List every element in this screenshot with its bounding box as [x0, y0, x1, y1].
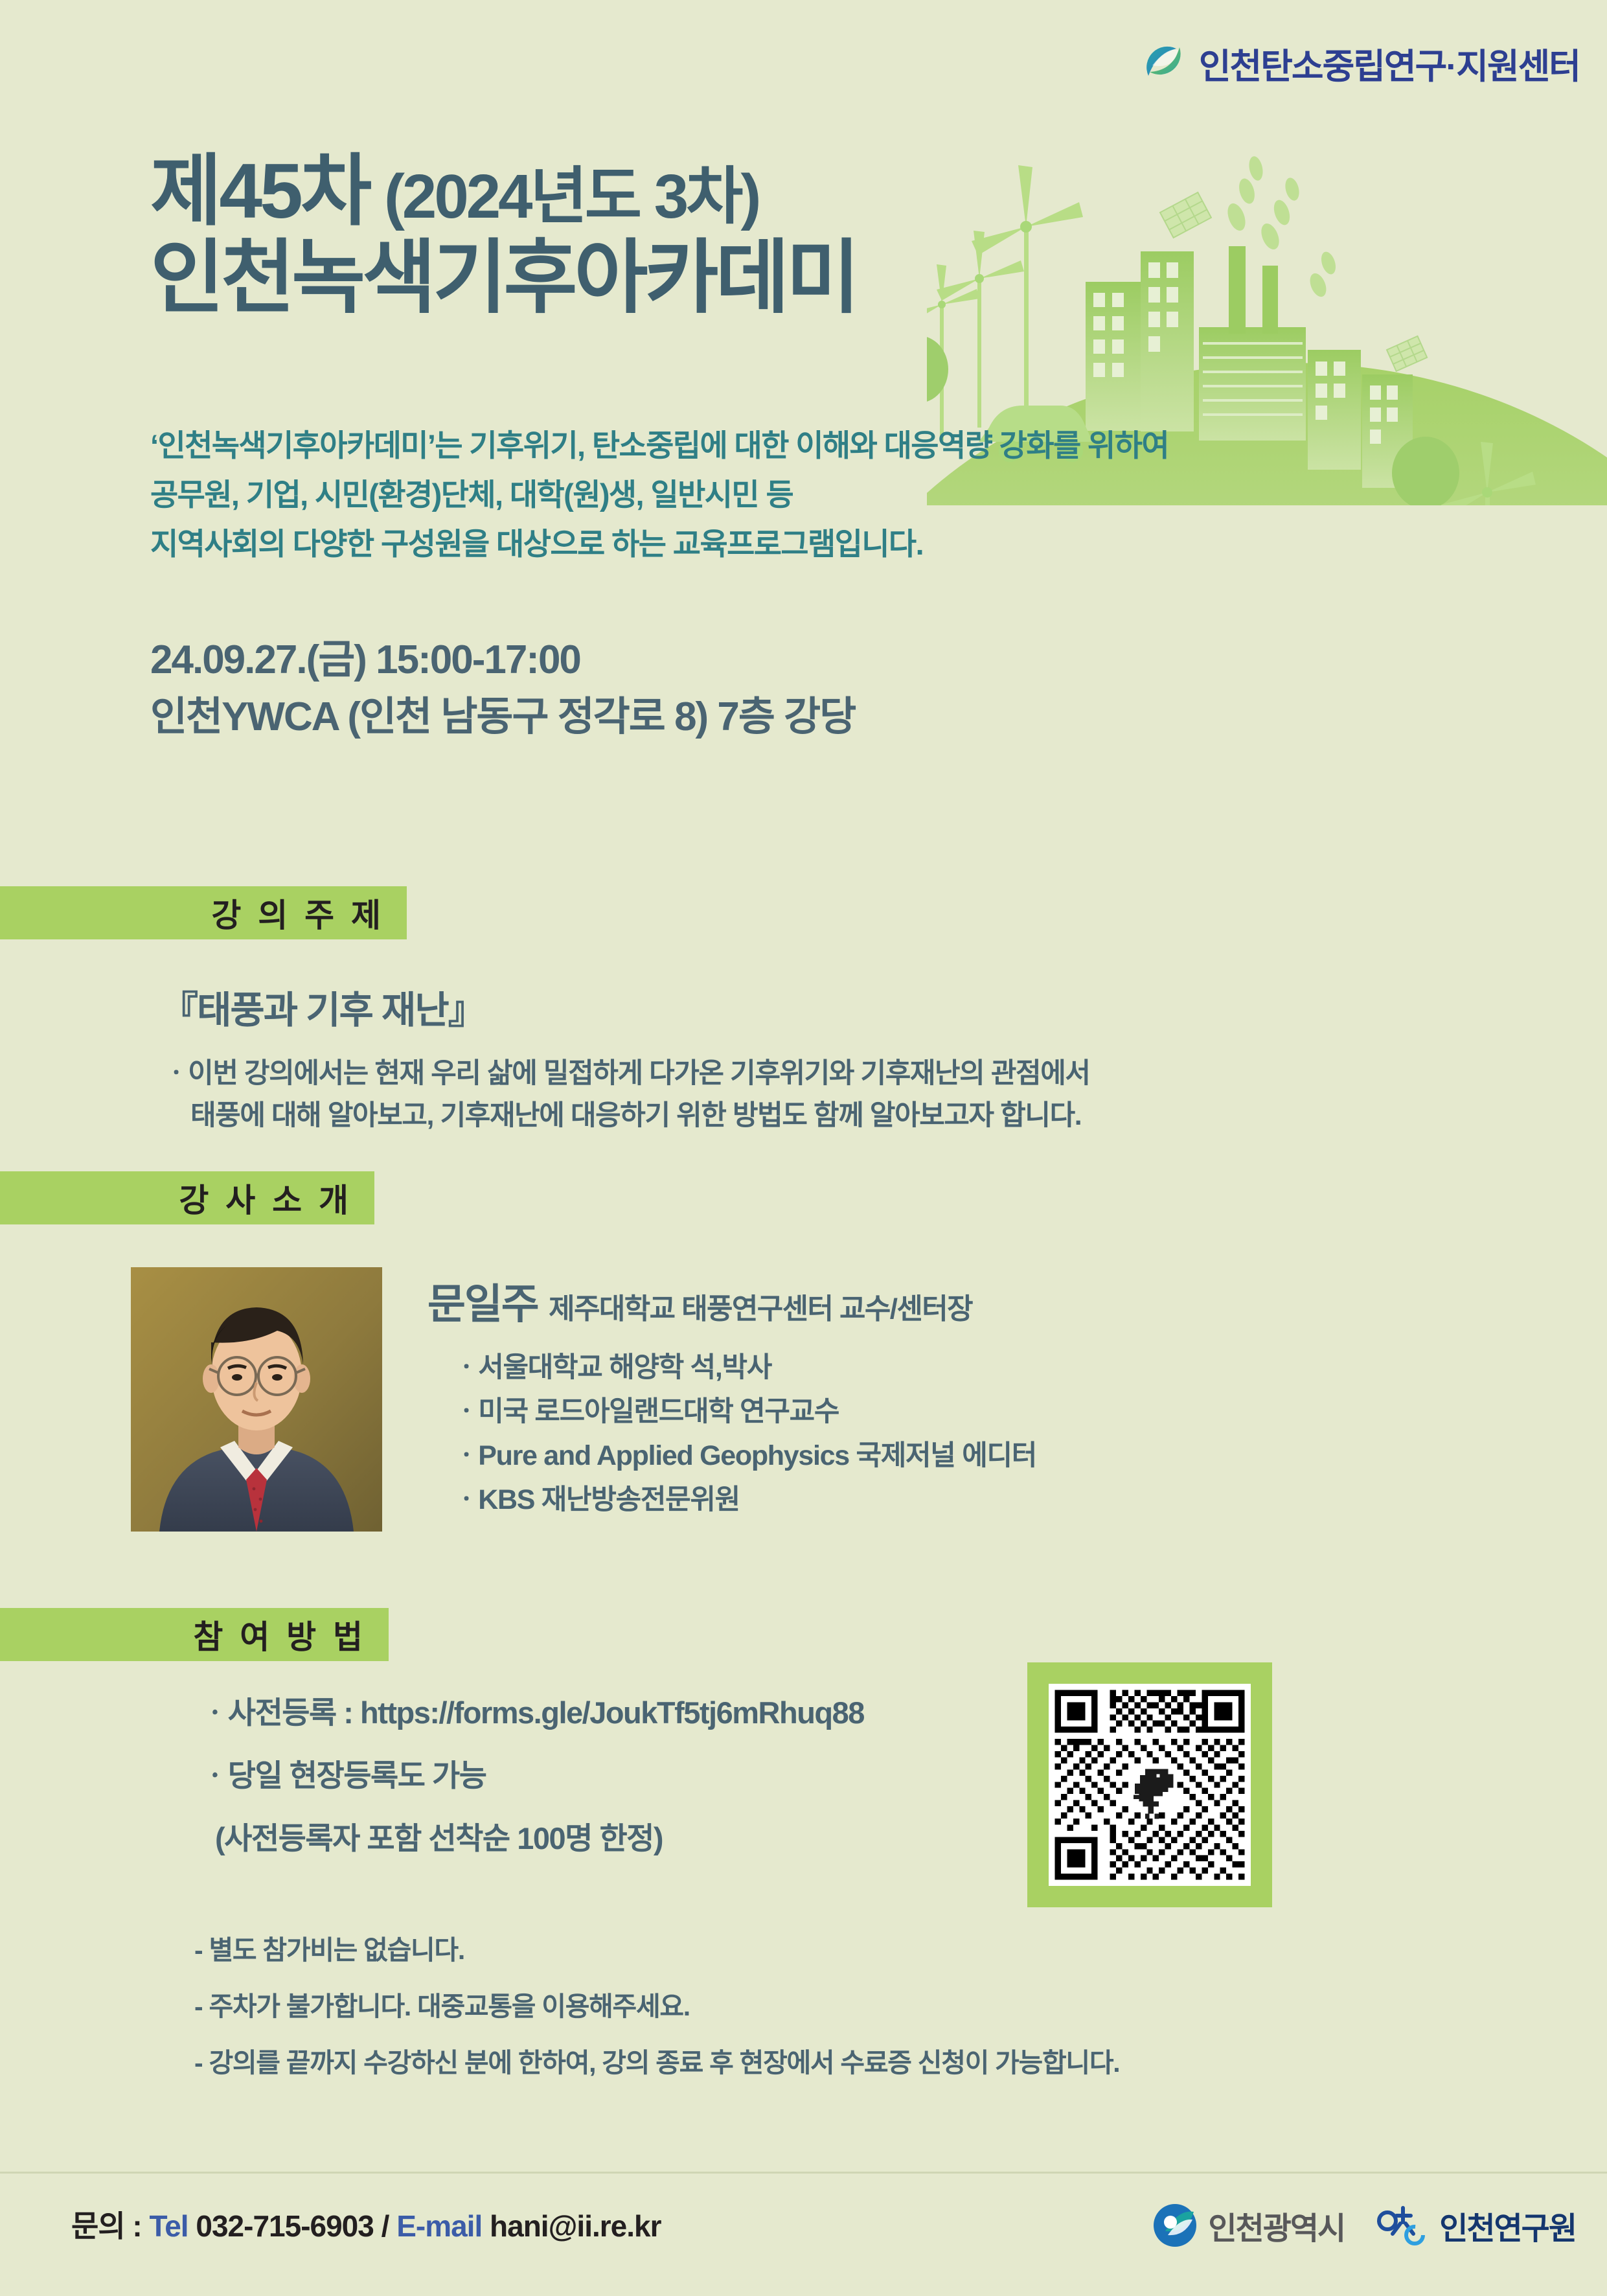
preregister-link[interactable]: ㆍ사전등록 : https://forms.gle/JoukTf5tj6mRhu…: [201, 1697, 864, 1728]
section-header-speaker-label: 강 사 소 개: [179, 1175, 352, 1221]
contact-info: 문의 : Tel 032-715-6903 / E-mail hani@ii.r…: [71, 2203, 661, 2245]
capacity-limit: (사전등록자 포함 선착순 100명 한정): [201, 1823, 864, 1854]
carbon-neutral-circle-logo: [1141, 40, 1189, 87]
list-item: - 강의를 끝까지 수강하신 분에 한하여, 강의 종료 후 현장에서 수료증 …: [194, 2050, 1119, 2076]
speaker-heading: 문일주 제주대학교 태풍연구센터 교수/센터장: [427, 1271, 972, 1331]
list-item: ㆍ미국 로드아일랜드대학 연구교수: [453, 1390, 1036, 1434]
speaker-name: 문일주: [427, 1281, 538, 1327]
footer-logos: 인천광역시 인천연구원: [1151, 2201, 1576, 2249]
incheon-city-logo: 인천광역시: [1151, 2201, 1345, 2249]
event-datetime: 24.09.27.(금) 15:00-17:00: [150, 632, 855, 689]
tel-number: 032-715-6903 /: [188, 2209, 397, 2243]
incheon-institute-logo: 인천연구원: [1374, 2201, 1576, 2249]
lecture-topic-body: ㆍ이번 강의에서는 현재 우리 삶에 밀접하게 다가온 기후위기와 기후재난의 …: [163, 1053, 1090, 1138]
speaker-role: 제주대학교 태풍연구센터 교수/센터장: [549, 1293, 972, 1325]
footer-divider: [0, 2172, 1607, 2174]
email-address: hani@ii.re.kr: [482, 2209, 661, 2243]
onsite-registration: ㆍ당일 현장등록도 가능: [201, 1760, 864, 1791]
speaker-credentials: ㆍ서울대학교 해양학 석,박사 ㆍ미국 로드아일랜드대학 연구교수 ㆍPure …: [453, 1346, 1036, 1522]
description-line-3: 지역사회의 다양한 구성원을 대상으로 하는 교육프로그램입니다.: [150, 520, 1168, 569]
schedule-block: 24.09.27.(금) 15:00-17:00 인천YWCA (인천 남동구 …: [150, 632, 855, 746]
topic-body-line-2: 태풍에 대해 알아보고, 기후재난에 대응하기 위한 방법도 함께 알아보고자 …: [163, 1095, 1090, 1137]
brand-logo: 인천탄소중립연구·지원센터: [1141, 38, 1580, 89]
list-item: ㆍPure and Applied Geophysics 국제저널 에디터: [453, 1434, 1036, 1478]
list-item: ㆍ서울대학교 해양학 석,박사: [453, 1346, 1036, 1390]
title-edition-line: 제45차 (2024년도 3차): [150, 148, 857, 235]
section-header-speaker: 강 사 소 개: [0, 1171, 374, 1224]
event-venue: 인천YWCA (인천 남동구 정각로 8) 7층 강당: [150, 689, 855, 746]
title-edition: 제45차: [150, 148, 369, 235]
program-description: ‘인천녹색기후아카데미’는 기후위기, 탄소중립에 대한 이해와 대응역량 강화…: [150, 421, 1168, 569]
brand-name: 인천탄소중립연구·지원센터: [1199, 38, 1580, 89]
title-round: (2024년도 3차): [384, 162, 759, 231]
section-header-topic: 강 의 주 제: [0, 886, 407, 939]
description-line-1: ‘인천녹색기후아카데미’는 기후위기, 탄소중립에 대한 이해와 대응역량 강화…: [150, 421, 1168, 470]
title-program: 인천녹색기후아카데미: [150, 236, 857, 320]
lecture-topic-title: 『태풍과 기후 재난』: [161, 980, 484, 1034]
speaker-portrait-photo: [127, 1263, 394, 1543]
topic-body-line-1: ㆍ이번 강의에서는 현재 우리 삶에 밀접하게 다가온 기후위기와 기후재난의 …: [163, 1053, 1090, 1095]
section-header-join-label: 참 여 방 법: [193, 1611, 367, 1658]
section-header-topic-label: 강 의 주 제: [211, 890, 385, 936]
list-item: - 별도 참가비는 없습니다.: [194, 1937, 1119, 1964]
footer-logo-label: 인천연구원: [1439, 2203, 1576, 2248]
section-header-join: 참 여 방 법: [0, 1608, 389, 1661]
email-label: E-mail: [396, 2209, 482, 2243]
poster-title: 제45차 (2024년도 3차) 인천녹색기후아카데미: [150, 148, 857, 321]
footer-logo-label: 인천광역시: [1208, 2203, 1345, 2248]
participation-notes: - 별도 참가비는 없습니다. - 주차가 불가합니다. 대중교통을 이용해주세…: [194, 1937, 1119, 2106]
inquiry-label: 문의 :: [71, 2209, 150, 2243]
list-item: - 주차가 불가합니다. 대중교통을 이용해주세요.: [194, 1993, 1119, 2020]
qr-code-registration[interactable]: [1027, 1662, 1272, 1907]
list-item: ㆍKBS 재난방송전문위원: [453, 1478, 1036, 1522]
participation-list: ㆍ사전등록 : https://forms.gle/JoukTf5tj6mRhu…: [201, 1697, 864, 1886]
description-line-2: 공무원, 기업, 시민(환경)단체, 대학(원)생, 일반시민 등: [150, 470, 1168, 520]
tel-label: Tel: [150, 2209, 188, 2243]
